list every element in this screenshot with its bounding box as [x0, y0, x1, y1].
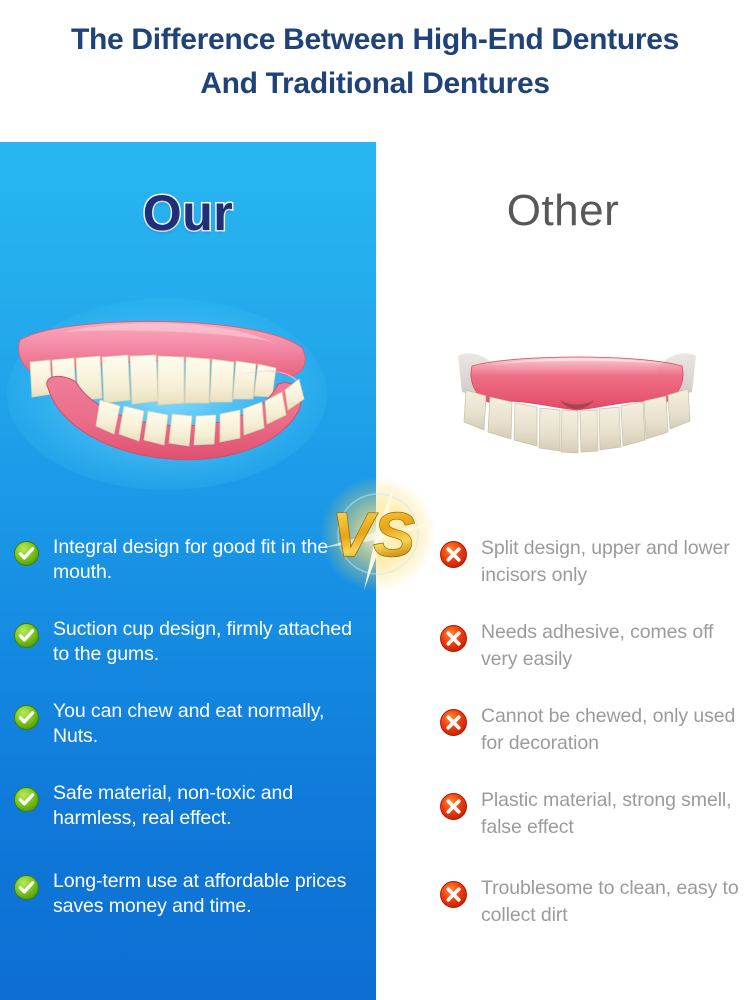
- cross-circle-icon: [440, 541, 467, 568]
- feature-text: Safe material, non-toxic and harmless, r…: [53, 781, 353, 831]
- cross-circle-icon: [440, 881, 467, 908]
- title-line-2: And Traditional Dentures: [0, 62, 750, 106]
- check-circle-icon: [14, 623, 39, 648]
- feature-list-other: Split design, upper and lower incisors o…: [376, 535, 750, 929]
- feature-item-our: Long-term use at affordable prices saves…: [14, 869, 376, 919]
- feature-text: Suction cup design, firmly attached to t…: [53, 617, 353, 667]
- feature-text: Plastic material, strong smell, false ef…: [481, 787, 741, 841]
- comparison-panels: Our: [0, 142, 750, 1000]
- feature-item-other: Troublesome to clean, easy to collect di…: [440, 875, 750, 929]
- page-title: The Difference Between High-End Dentures…: [0, 0, 750, 142]
- feature-text: Troublesome to clean, easy to collect di…: [481, 875, 741, 929]
- feature-item-other: Plastic material, strong smell, false ef…: [440, 787, 750, 875]
- feature-text: You can chew and eat normally, Nuts.: [53, 699, 353, 749]
- vs-badge: VS: [318, 474, 438, 594]
- heading-other: Other: [376, 186, 750, 236]
- feature-text: Cannot be chewed, only used for decorati…: [481, 703, 741, 757]
- feature-item-our: You can chew and eat normally, Nuts.: [14, 699, 376, 781]
- feature-item-other: Split design, upper and lower incisors o…: [440, 535, 750, 619]
- feature-item-our: Suction cup design, firmly attached to t…: [14, 617, 376, 699]
- title-line-1: The Difference Between High-End Dentures: [0, 18, 750, 62]
- check-circle-icon: [14, 787, 39, 812]
- feature-text: Needs adhesive, comes off very easily: [481, 619, 741, 673]
- heading-our: Our: [0, 184, 376, 242]
- cross-circle-icon: [440, 793, 467, 820]
- cross-circle-icon: [440, 709, 467, 736]
- feature-item-other: Cannot be chewed, only used for decorati…: [440, 703, 750, 787]
- vs-letter-v: VS: [332, 501, 415, 570]
- feature-text: Long-term use at affordable prices saves…: [53, 869, 373, 919]
- check-circle-icon: [14, 541, 39, 566]
- check-circle-icon: [14, 705, 39, 730]
- check-circle-icon: [14, 875, 39, 900]
- cross-circle-icon: [440, 625, 467, 652]
- feature-item-other: Needs adhesive, comes off very easily: [440, 619, 750, 703]
- denture-image-other: [452, 342, 702, 467]
- feature-text: Split design, upper and lower incisors o…: [481, 535, 741, 589]
- feature-item-our: Safe material, non-toxic and harmless, r…: [14, 781, 376, 869]
- feature-text: Integral design for good fit in the mout…: [53, 535, 353, 585]
- denture-image-our: [2, 292, 332, 497]
